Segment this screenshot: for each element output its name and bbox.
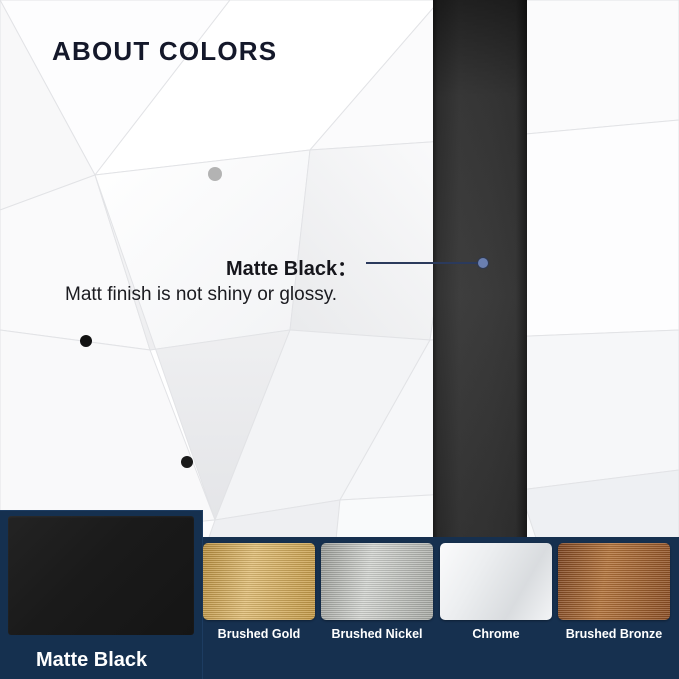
swatch-label-chrome: Chrome <box>440 627 552 641</box>
swatch-label-brushed-gold: Brushed Gold <box>203 627 315 641</box>
callout-leader-line <box>366 262 480 264</box>
swatch-tile-matte-black[interactable]: Matte Black <box>0 511 202 679</box>
swatch-label-matte-black: Matte Black <box>36 649 147 672</box>
swatch-chip-brushed-nickel[interactable] <box>321 543 433 620</box>
swatch-tile-chrome[interactable]: Chrome <box>440 543 552 641</box>
swatch-chip-matte-black[interactable] <box>8 516 194 635</box>
swatch-chip-brushed-bronze[interactable] <box>558 543 670 620</box>
vertex-dot-black-lower <box>181 456 193 468</box>
vertex-dot-black-upper <box>80 335 92 347</box>
swatch-tile-brushed-bronze[interactable]: Brushed Bronze <box>558 543 670 641</box>
matte-black-sample-band <box>433 0 527 538</box>
about-colors-infographic: ABOUT COLORS Matte Black： Matt finish is… <box>0 0 679 679</box>
callout-label: Matte Black： <box>226 252 357 281</box>
swatch-chip-brushed-gold[interactable] <box>203 543 315 620</box>
swatch-tile-brushed-gold[interactable]: Brushed Gold <box>203 543 315 641</box>
page-title: ABOUT COLORS <box>52 36 277 67</box>
swatch-chip-chrome[interactable] <box>440 543 552 620</box>
callout-leader-dot <box>478 258 488 268</box>
swatch-label-brushed-nickel: Brushed Nickel <box>321 627 433 641</box>
swatch-label-brushed-bronze: Brushed Bronze <box>558 627 670 641</box>
swatch-tile-brushed-nickel[interactable]: Brushed Nickel <box>321 543 433 641</box>
callout-description: Matt finish is not shiny or glossy. <box>65 284 337 306</box>
vertex-dot-grey <box>208 167 222 181</box>
